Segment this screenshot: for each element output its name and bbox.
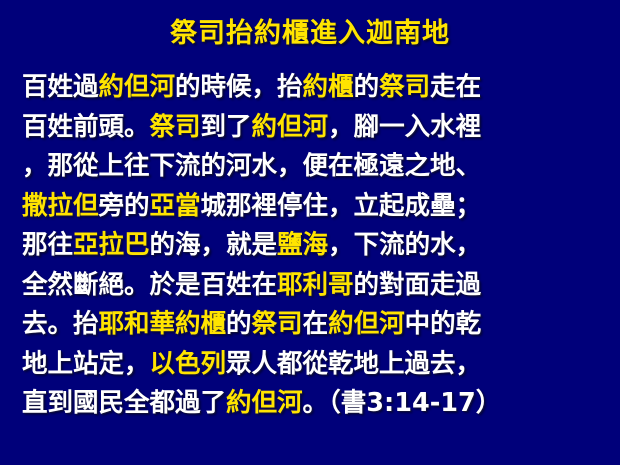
verse-line: ，那從上往下流的河水，便在極遠之地、 [22,147,600,187]
verse-text: 地上站定， [22,349,150,379]
presentation-slide: 祭司抬約櫃進入迦南地 百姓過約但河的時候，抬約櫃的祭司走在百姓前頭。祭司到了約但… [0,0,620,465]
verse-text: 在 [303,309,329,339]
verse-text: 全然斷絕。於是百姓在 [22,270,277,300]
highlighted-term: 約但河 [226,388,303,418]
verse-text: 城那裡停住，立起成壘； [201,191,482,221]
slide-title: 祭司抬約櫃進入迦南地 [0,18,620,50]
highlighted-term: 祭司 [150,112,201,142]
highlighted-term: 祭司 [252,309,303,339]
highlighted-term: 約但河 [328,309,405,339]
highlighted-term: 約櫃 [303,72,354,102]
verse-text: 那往 [22,230,73,260]
verse-line: 全然斷絕。於是百姓在耶利哥的對面走過 [22,266,600,306]
verse-text: 到了 [201,112,252,142]
verse-text: ，腳一入水裡 [328,112,481,142]
highlighted-term: 亞拉巴 [73,230,150,260]
verse-text: 中的乾 [405,309,482,339]
highlighted-term: 撒拉但 [22,191,99,221]
verse-text: ，那從上往下流的河水，便在極遠之地、 [22,151,481,181]
verse-line: 撒拉但旁的亞當城那裡停住，立起成壘； [22,187,600,227]
verse-text: 的時候，抬 [175,72,303,102]
highlighted-term: 耶和華約櫃 [99,309,227,339]
highlighted-term: 以色列 [150,349,227,379]
verse-text: 的 [354,72,380,102]
scripture-body: 百姓過約但河的時候，抬約櫃的祭司走在百姓前頭。祭司到了約但河，腳一入水裡，那從上… [22,68,600,424]
verse-text: 。（書3:14-17） [303,388,502,418]
verse-line: 去。抬耶和華約櫃的祭司在約但河中的乾 [22,305,600,345]
verse-text: 旁的 [99,191,150,221]
highlighted-term: 約但河 [99,72,176,102]
verse-line: 那往亞拉巴的海，就是鹽海，下流的水， [22,226,600,266]
verse-line: 地上站定，以色列眾人都從乾地上過去， [22,345,600,385]
highlighted-term: 鹽海 [277,230,328,260]
verse-text: 走在 [430,72,481,102]
verse-text: 去。抬 [22,309,99,339]
verse-text: 的對面走過 [354,270,482,300]
verse-text: 的海，就是 [150,230,278,260]
verse-text: 的 [226,309,252,339]
verse-line: 百姓過約但河的時候，抬約櫃的祭司走在 [22,68,600,108]
highlighted-term: 祭司 [379,72,430,102]
verse-text: 百姓前頭。 [22,112,150,142]
highlighted-term: 約但河 [252,112,329,142]
verse-line: 直到國民全都過了約但河。（書3:14-17） [22,384,600,424]
verse-text: 眾人都從乾地上過去， [226,349,481,379]
verse-line: 百姓前頭。祭司到了約但河，腳一入水裡 [22,108,600,148]
verse-text: 百姓過 [22,72,99,102]
highlighted-term: 耶利哥 [277,270,354,300]
verse-text: 直到國民全都過了 [22,388,226,418]
highlighted-term: 亞當 [150,191,201,221]
verse-text: ，下流的水， [328,230,481,260]
